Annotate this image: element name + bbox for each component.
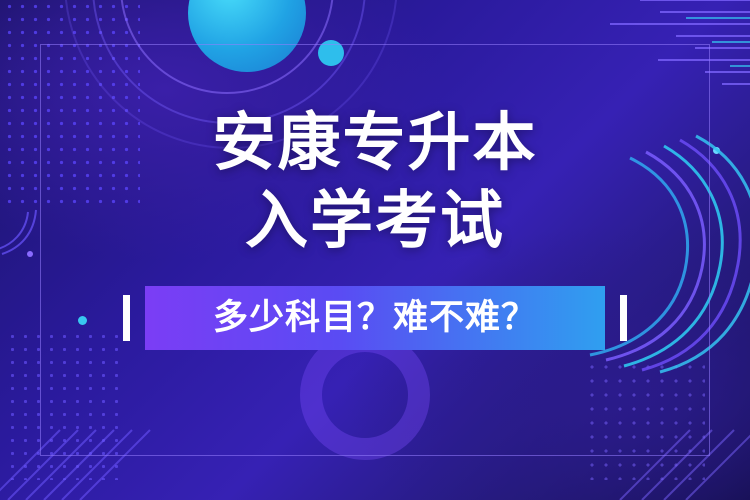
- subtitle-text: 多少科目？难不难？: [145, 286, 605, 350]
- subtitle-banner: 多少科目？难不难？: [145, 286, 605, 350]
- headline-line-2: 入学考试: [0, 182, 750, 260]
- right-tick-mark-icon: [620, 295, 627, 341]
- poster-text-block: 安康专升本 入学考试 多少科目？难不难？: [0, 104, 750, 350]
- page-title: 安康专升本 入学考试: [0, 104, 750, 260]
- left-tick-mark-icon: [123, 295, 130, 341]
- headline-line-1: 安康专升本: [0, 104, 750, 182]
- poster-canvas: 安康专升本 入学考试 多少科目？难不难？: [0, 0, 750, 500]
